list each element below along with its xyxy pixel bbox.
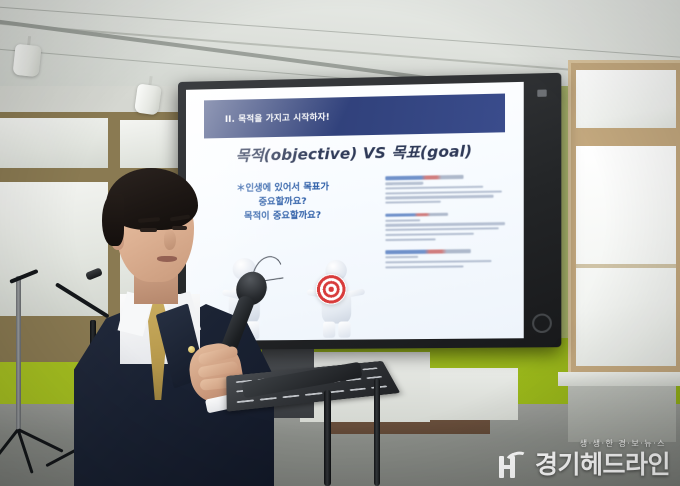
slide-banner: II. 목적을 가지고 시작하자!	[204, 94, 505, 139]
music-stand-pole	[374, 378, 380, 486]
lapel-pin	[188, 346, 195, 353]
eye	[172, 226, 187, 230]
slide-banner-text: II. 목적을 가지고 시작하자!	[225, 111, 330, 125]
window-pane	[0, 118, 108, 170]
slide-notes-column	[385, 174, 511, 270]
watermark-tagline: 생·생·한 경·보·뉴·스	[497, 438, 666, 449]
watermark-brand-row: 경기헤드라인	[497, 450, 670, 478]
power-button[interactable]	[532, 313, 552, 333]
eye	[140, 228, 157, 232]
watermark-brand: 경기헤드라인	[535, 452, 670, 477]
window-mullion	[576, 264, 676, 268]
window-sill	[558, 372, 680, 386]
music-stand[interactable]	[228, 334, 418, 486]
cabinet-white	[430, 368, 518, 420]
mouth	[157, 256, 177, 262]
photo-scene: II. 목적을 가지고 시작하자! 목적(objective) VS 목표(go…	[0, 0, 680, 486]
slide-title: 목적(objective) VS 목표(goal)	[186, 140, 524, 168]
track-light-spot	[11, 35, 42, 87]
radiator-cover	[568, 386, 676, 442]
window-pane	[576, 70, 676, 128]
indicator-icon	[537, 89, 546, 96]
window-pane	[576, 146, 676, 366]
watermark: 생·생·한 경·보·뉴·스 경기헤드라인	[497, 438, 670, 478]
h-logo-icon	[497, 450, 531, 478]
nose	[164, 230, 176, 250]
music-stand-pole	[324, 390, 331, 486]
hair-sideburn	[102, 194, 124, 246]
